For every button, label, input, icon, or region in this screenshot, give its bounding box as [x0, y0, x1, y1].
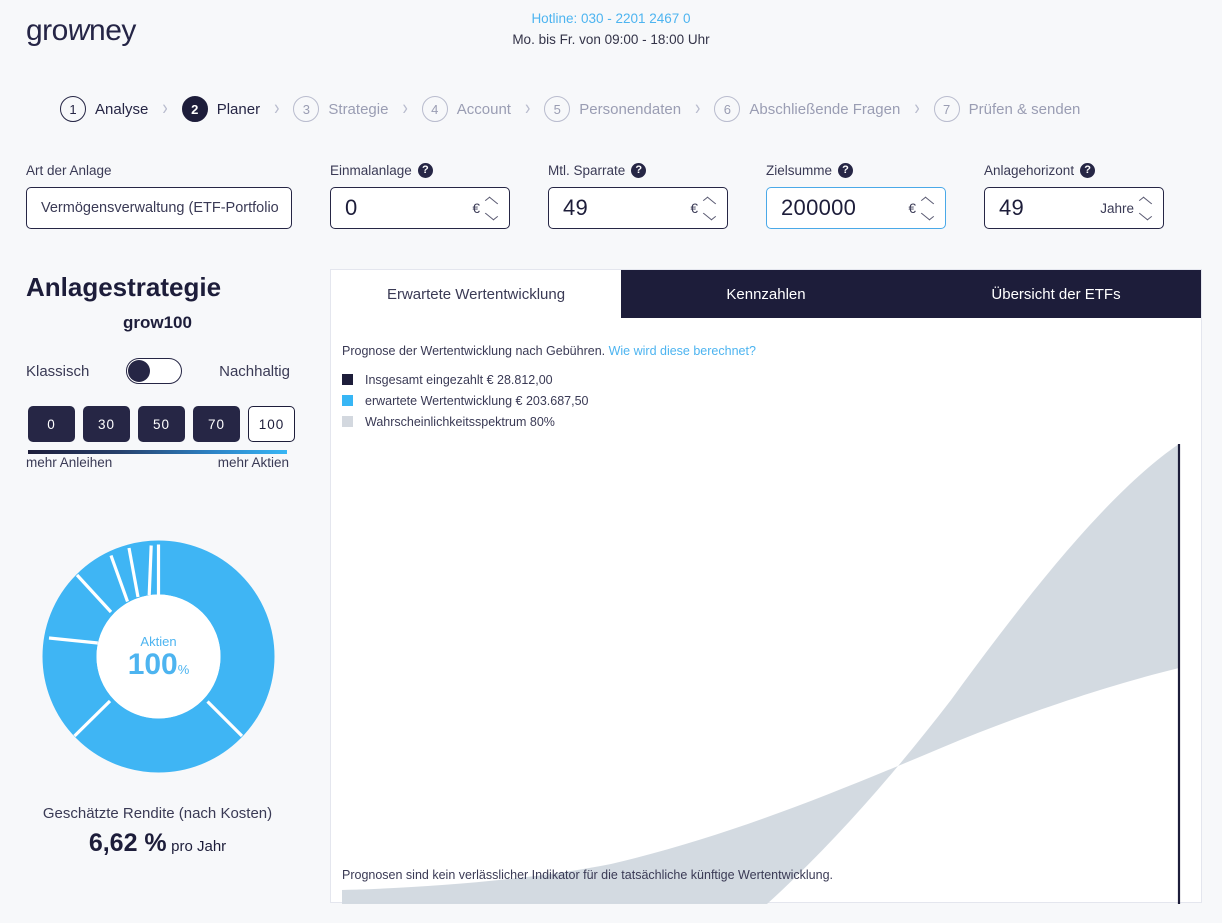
stepper-down-icon[interactable]	[703, 209, 716, 220]
stepper-down-icon[interactable]	[1139, 209, 1152, 220]
stepper-up-icon[interactable]	[703, 196, 716, 207]
stepper-up-icon[interactable]	[485, 196, 498, 207]
legend-label: Insgesamt eingezahlt € 28.812,00	[365, 373, 553, 387]
step-account[interactable]: 4Account	[422, 96, 511, 122]
label-text: Einmalanlage	[330, 163, 412, 178]
donut-value: 100%	[128, 650, 190, 680]
label-text: Art der Anlage	[26, 163, 112, 178]
step-strategie[interactable]: 3Strategie	[293, 96, 388, 122]
legend-label: Wahrscheinlichkeitsspektrum 80%	[365, 415, 555, 429]
stepper-zielsumme[interactable]	[922, 199, 935, 218]
stepper-einmalanlage[interactable]	[486, 199, 499, 218]
field-zielsumme: Zielsumme ? 200000 €	[766, 160, 946, 229]
input-value: 200000	[781, 195, 908, 221]
panel-tabs: Erwartete WertentwicklungKennzahlenÜbers…	[331, 270, 1201, 318]
step-number: 3	[293, 96, 319, 122]
help-icon[interactable]: ?	[1080, 163, 1095, 178]
forecast-chart: € 200.000 Zielsumme 20252030203520402045…	[331, 430, 1203, 904]
probability-band-area	[342, 444, 1179, 904]
field-anlagehorizont: Anlagehorizont ? 49 Jahre	[984, 160, 1164, 229]
legend-item-0: Insgesamt eingezahlt € 28.812,00	[342, 369, 589, 390]
risk-level-70[interactable]: 70	[193, 406, 240, 442]
stepper-up-icon[interactable]	[1139, 196, 1152, 207]
step-number: 2	[182, 96, 208, 122]
step-label: Planer	[217, 101, 260, 118]
stepper-anlagehorizont[interactable]	[1140, 199, 1153, 218]
step-label: Analyse	[95, 101, 148, 118]
risk-scale-labels: mehr Anleihen mehr Aktien	[26, 455, 289, 470]
strategy-name: grow100	[0, 313, 315, 333]
select-art-der-anlage[interactable]: Vermögensverwaltung (ETF-Portfolio	[26, 187, 292, 229]
input-value: 49	[999, 195, 1100, 221]
legend-swatch	[342, 395, 353, 406]
step-number: 6	[714, 96, 740, 122]
step-abschlie-ende-fragen[interactable]: 6Abschließende Fragen	[714, 96, 900, 122]
step-label: Prüfen & senden	[969, 101, 1081, 118]
page-header: growney Hotline: 030 - 2201 2467 0 Mo. b…	[0, 0, 1222, 62]
label-text: Mtl. Sparrate	[548, 163, 625, 178]
hotline-number[interactable]: Hotline: 030 - 2201 2467 0	[0, 11, 1222, 26]
risk-gradient-bar	[28, 450, 287, 454]
input-zielsumme[interactable]: 200000 €	[766, 187, 946, 229]
tab-kennzahlen[interactable]: Kennzahlen	[621, 270, 911, 318]
help-icon[interactable]: ?	[418, 163, 433, 178]
legend-swatch	[342, 416, 353, 427]
strategy-type-toggle-row: Klassisch Nachhaltig	[26, 358, 290, 384]
tab-erwartete-wertentwicklung[interactable]: Erwartete Wertentwicklung	[331, 270, 621, 318]
risk-level-0[interactable]: 0	[28, 406, 75, 442]
step-separator-icon: ›	[525, 98, 530, 120]
field-einmalanlage: Einmalanlage ? 0 €	[330, 160, 510, 229]
donut-value-number: 100	[128, 648, 178, 681]
input-value: 49	[563, 195, 690, 221]
forecast-chart-svg: € 200.000 Zielsumme 20252030203520402045…	[331, 430, 1203, 904]
label-text: Zielsumme	[766, 163, 832, 178]
step-number: 1	[60, 96, 86, 122]
estimated-return-value: 6,62 % pro Jahr	[0, 829, 315, 858]
strategy-type-switch[interactable]	[126, 358, 182, 384]
tab-bersicht-der-etfs[interactable]: Übersicht der ETFs	[911, 270, 1201, 318]
label-text: Anlagehorizont	[984, 163, 1074, 178]
donut-center-label: Aktien 100%	[41, 539, 276, 774]
label-zielsumme: Zielsumme ?	[766, 160, 946, 180]
step-number: 5	[544, 96, 570, 122]
risk-level-50[interactable]: 50	[138, 406, 185, 442]
chart-note-text: Prognose der Wertentwicklung nach Gebühr…	[342, 344, 605, 358]
select-value: Vermögensverwaltung (ETF-Portfolio	[41, 200, 281, 216]
donut-value-unit: %	[178, 662, 190, 677]
stepper-mtl-sparrate[interactable]	[704, 199, 717, 218]
legend-item-1: erwartete Wertentwicklung € 203.687,50	[342, 390, 589, 411]
step-label: Abschließende Fragen	[749, 101, 900, 118]
page-title: Anlagestrategie	[26, 272, 221, 303]
input-anlagehorizont[interactable]: 49 Jahre	[984, 187, 1164, 229]
label-art-der-anlage: Art der Anlage	[26, 160, 292, 180]
step-separator-icon: ›	[162, 98, 167, 120]
stepper-down-icon[interactable]	[921, 209, 934, 220]
stepper-down-icon[interactable]	[485, 209, 498, 220]
legend-item-2: Wahrscheinlichkeitsspektrum 80%	[342, 411, 589, 432]
step-label: Personendaten	[579, 101, 681, 118]
chart-disclaimer: Prognosen sind kein verlässlicher Indika…	[342, 868, 833, 882]
how-calculated-link[interactable]: Wie wird diese berechnet?	[609, 344, 756, 358]
chart-legend: Insgesamt eingezahlt € 28.812,00erwartet…	[342, 369, 589, 432]
forecast-panel: Erwartete WertentwicklungKennzahlenÜbers…	[330, 269, 1202, 903]
unit-label: €	[908, 201, 916, 216]
step-personendaten[interactable]: 5Personendaten	[544, 96, 681, 122]
toggle-label-klassisch[interactable]: Klassisch	[26, 363, 89, 380]
scale-label-left: mehr Anleihen	[26, 455, 112, 470]
estimated-return-label: Geschätzte Rendite (nach Kosten)	[0, 805, 315, 822]
toggle-label-nachhaltig[interactable]: Nachhaltig	[219, 363, 290, 380]
scale-label-right: mehr Aktien	[218, 455, 289, 470]
label-mtl-sparrate: Mtl. Sparrate ?	[548, 160, 728, 180]
label-anlagehorizont: Anlagehorizont ?	[984, 160, 1164, 180]
step-separator-icon: ›	[274, 98, 279, 120]
donut-label-text: Aktien	[140, 634, 176, 649]
step-separator-icon: ›	[695, 98, 700, 120]
step-analyse[interactable]: 1Analyse	[60, 96, 148, 122]
input-value: 0	[345, 195, 472, 221]
risk-level-selector: 0305070100	[28, 406, 295, 442]
stepper-up-icon[interactable]	[921, 196, 934, 207]
hotline-hours: Mo. bis Fr. von 09:00 - 18:00 Uhr	[0, 32, 1222, 47]
input-einmalanlage[interactable]: 0 €	[330, 187, 510, 229]
return-number: 6,62 %	[89, 829, 167, 857]
help-icon[interactable]: ?	[838, 163, 853, 178]
step-number: 4	[422, 96, 448, 122]
step-separator-icon: ›	[914, 98, 919, 120]
planner-page: growney Hotline: 030 - 2201 2467 0 Mo. b…	[0, 0, 1222, 923]
return-suffix: pro Jahr	[171, 838, 226, 855]
field-mtl-sparrate: Mtl. Sparrate ? 49 €	[548, 160, 728, 229]
risk-level-30[interactable]: 30	[83, 406, 130, 442]
step-pr-fen-senden[interactable]: 7Prüfen & senden	[934, 96, 1081, 122]
input-mtl-sparrate[interactable]: 49 €	[548, 187, 728, 229]
unit-label: €	[472, 201, 480, 216]
chart-note: Prognose der Wertentwicklung nach Gebühr…	[342, 344, 756, 358]
legend-swatch	[342, 374, 353, 385]
label-einmalanlage: Einmalanlage ?	[330, 160, 510, 180]
unit-label: €	[690, 201, 698, 216]
step-label: Strategie	[328, 101, 388, 118]
risk-level-100[interactable]: 100	[248, 406, 295, 442]
unit-label: Jahre	[1100, 201, 1134, 216]
input-fields-row: Art der Anlage Vermögensverwaltung (ETF-…	[0, 160, 1222, 240]
step-label: Account	[457, 101, 511, 118]
step-planer[interactable]: 2Planer	[182, 96, 260, 122]
step-navigation: 1Analyse›2Planer›3Strategie›4Account›5Pe…	[60, 96, 1080, 122]
step-number: 7	[934, 96, 960, 122]
allocation-donut-chart: Aktien 100%	[41, 539, 276, 774]
field-art-der-anlage: Art der Anlage Vermögensverwaltung (ETF-…	[26, 160, 292, 229]
step-separator-icon: ›	[402, 98, 407, 120]
legend-label: erwartete Wertentwicklung € 203.687,50	[365, 394, 589, 408]
help-icon[interactable]: ?	[631, 163, 646, 178]
